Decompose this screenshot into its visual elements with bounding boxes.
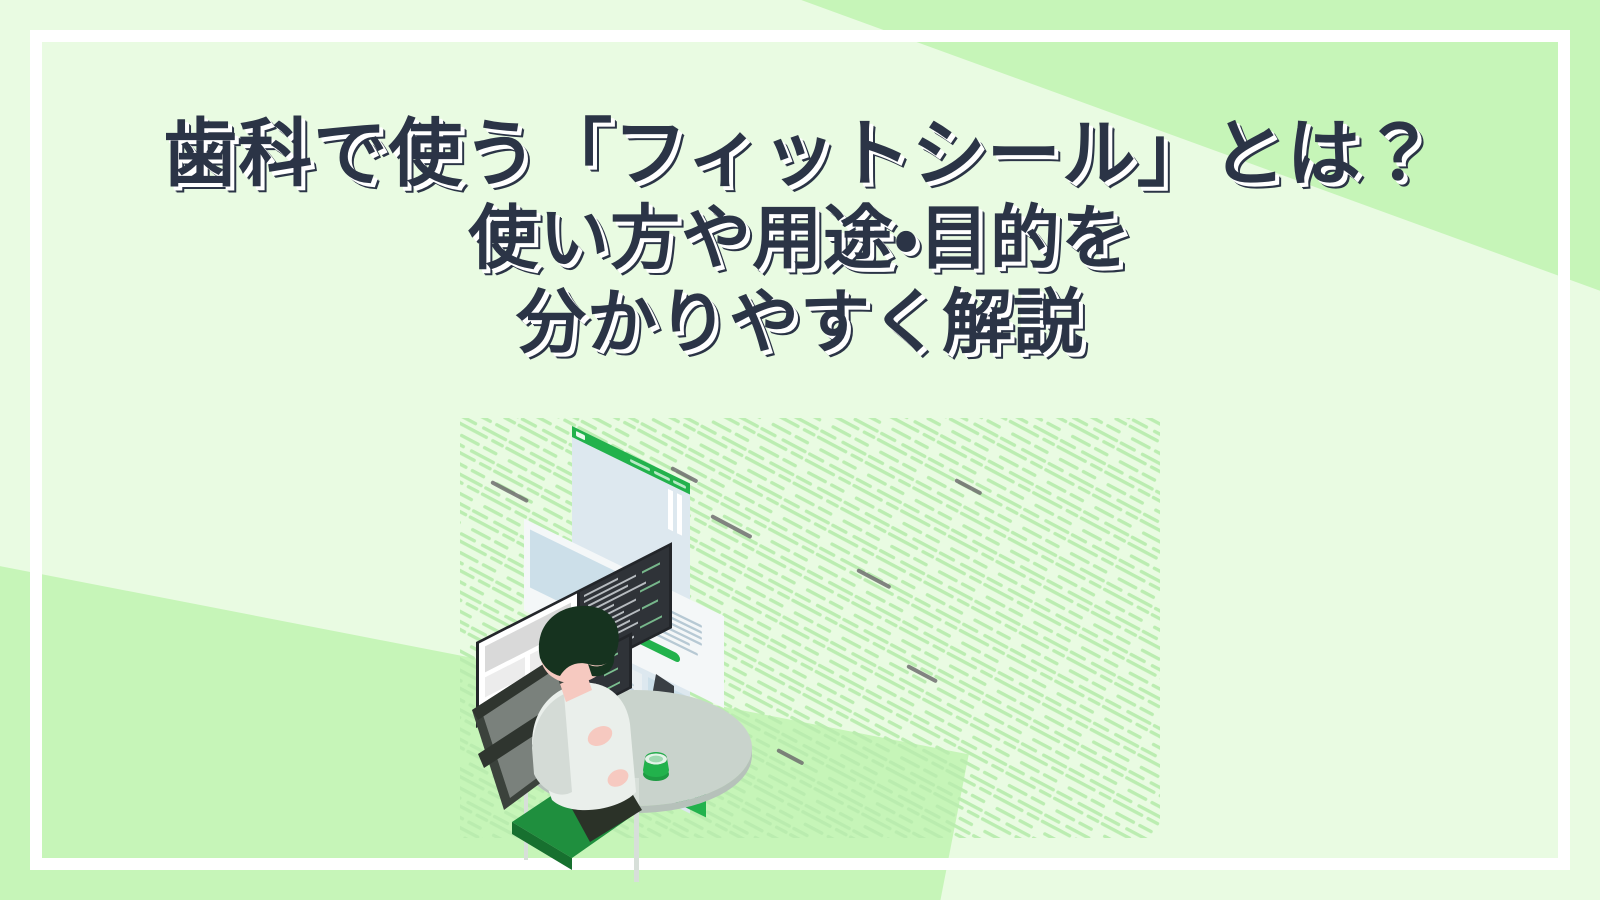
page-title: 歯科で使う「フィットシール」とは？ 使い方や用途・目的を 分かりやすく解説	[0, 112, 1600, 364]
coffee-cup	[643, 752, 669, 781]
title-line-2: 使い方や用途・目的を	[0, 196, 1600, 280]
hero-illustration	[460, 418, 1160, 900]
title-line-3: 分かりやすく解説	[0, 280, 1600, 364]
eyecatch-canvas: 歯科で使う「フィットシール」とは？ 使い方や用途・目的を 分かりやすく解説	[0, 0, 1600, 900]
title-line-1: 歯科で使う「フィットシール」とは？	[0, 112, 1600, 196]
